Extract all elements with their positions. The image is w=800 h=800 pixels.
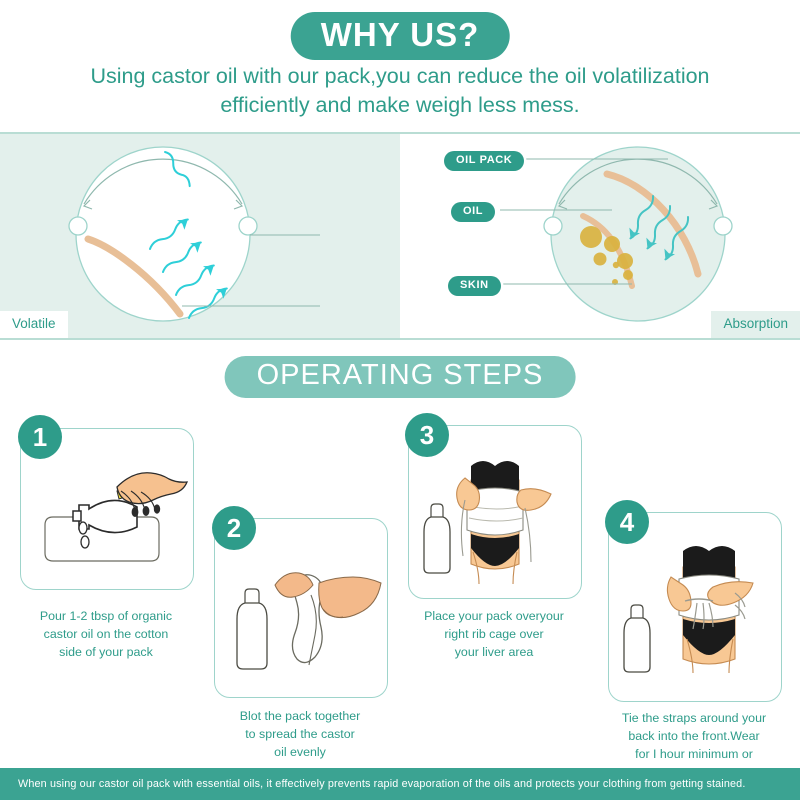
- step-2-caption-line-3: oil evenly: [202, 744, 398, 762]
- absorption-panel: OIL PACK OIL SKIN Absorption: [400, 134, 800, 338]
- volatile-corner-label: Volatile: [0, 311, 68, 339]
- step-badge-1: 1: [18, 415, 62, 459]
- step-badge-2: 2: [212, 506, 256, 550]
- operating-steps-heading: OPERATING STEPS: [225, 356, 576, 398]
- hero-section: WHY US? Using castor oil with our pack,y…: [0, 0, 800, 130]
- volatile-illustration: [0, 134, 400, 338]
- oil-drop-2: [81, 536, 89, 548]
- hero-subtitle: Using castor oil with our pack,you can r…: [0, 62, 800, 120]
- absorption-corner-label: Absorption: [711, 311, 800, 339]
- strap-right: [525, 508, 531, 562]
- step-1-caption-line-3: side of your pack: [8, 644, 204, 662]
- volatile-panel: OIL SKIN Volatile: [0, 134, 400, 338]
- hero-subtitle-line-1: Using castor oil with our pack,you can r…: [40, 62, 760, 91]
- hinge-dot-right: [239, 217, 257, 235]
- step-2-caption-line-2: to spread the castor: [202, 726, 398, 744]
- bottle-neck: [73, 511, 81, 521]
- hand: [117, 473, 187, 504]
- step-3-caption-line-1: Place your pack overyour: [396, 608, 592, 626]
- oil-bottle: [624, 618, 650, 672]
- tag-oil-absorption: OIL: [451, 202, 495, 222]
- step-2-caption-line-1: Blot the pack together: [202, 708, 398, 726]
- hinge-dot-right: [714, 217, 732, 235]
- step-3-caption-line-3: your liver area: [396, 644, 592, 662]
- step-1-caption-line-1: Pour 1-2 tbsp of organic: [8, 608, 204, 626]
- fingernail-1: [132, 507, 139, 517]
- step-caption-2: Blot the pack together to spread the cas…: [202, 708, 398, 762]
- step-4-caption-line-1: Tie the straps around your: [596, 710, 792, 728]
- oil-bottle: [237, 603, 267, 669]
- diagram-band: OIL SKIN Volatile: [0, 132, 800, 340]
- step-caption-1: Pour 1-2 tbsp of organic castor oil on t…: [8, 608, 204, 662]
- step-badge-4: 4: [605, 500, 649, 544]
- why-us-badge: WHY US?: [291, 12, 510, 60]
- step-3-caption-line-2: right rib cage over: [396, 626, 592, 644]
- hinge-dot-left: [544, 217, 562, 235]
- right-hand: [319, 577, 381, 618]
- tag-oil-pack-absorption: OIL PACK: [444, 151, 524, 171]
- hinge-dot-left: [69, 217, 87, 235]
- oil-bottle: [79, 500, 137, 532]
- step-4-caption-line-2: back into the front.Wear: [596, 728, 792, 746]
- oil-drop-1: [79, 522, 87, 534]
- step-4-caption-line-3: for I hour minimum or: [596, 746, 792, 764]
- tag-skin-absorption: SKIN: [448, 276, 501, 296]
- right-arm: [517, 489, 551, 511]
- bottle-neck: [631, 605, 643, 619]
- step-caption-3: Place your pack overyour right rib cage …: [396, 608, 592, 662]
- step-badge-3: 3: [405, 413, 449, 457]
- fingernail-2: [143, 506, 150, 516]
- oil-bottle: [424, 517, 450, 573]
- fingernail-3: [154, 504, 160, 513]
- footer-note: When using our castor oil pack with esse…: [0, 768, 800, 800]
- infographic-page: WHY US? Using castor oil with our pack,y…: [0, 0, 800, 800]
- bottle-neck: [431, 504, 443, 518]
- hero-subtitle-line-2: efficiently and make weigh less mess.: [40, 91, 760, 120]
- step-1-caption-line-2: castor oil on the cotton: [8, 626, 204, 644]
- band-divider-bottom: [0, 338, 800, 340]
